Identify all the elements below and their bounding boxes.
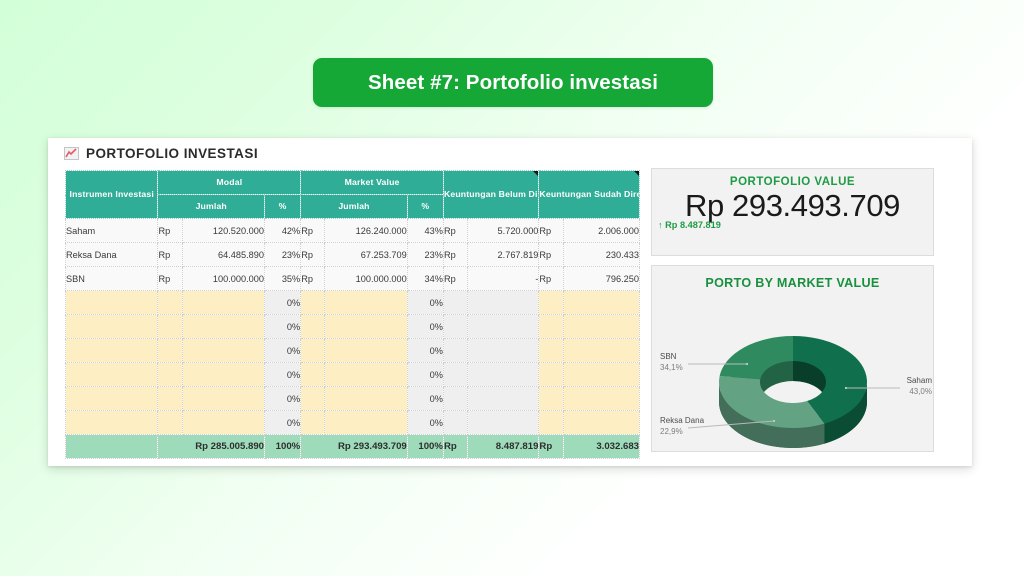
cell-modal-cur[interactable]: Rp	[158, 219, 182, 243]
cell-sudah-cur[interactable]: Rp	[539, 219, 563, 243]
donut-label-sbn: SBN 34,1%	[660, 352, 683, 374]
table-total-row[interactable]: Rp 285.005.890100%Rp 293.493.709100%Rp8.…	[66, 435, 640, 459]
donut-label-reksa-dana-name: Reksa Dana	[660, 416, 704, 427]
cell-empty[interactable]	[158, 291, 182, 315]
cell-empty[interactable]	[301, 411, 325, 435]
total-cell-mv-jumlah[interactable]: Rp 293.493.709	[301, 435, 408, 459]
cell-belum-cur[interactable]: Rp	[443, 267, 467, 291]
cell-empty[interactable]	[443, 291, 467, 315]
cell-empty[interactable]	[301, 363, 325, 387]
table-row-empty[interactable]: 0%0%	[66, 387, 640, 411]
line-chart-icon	[64, 147, 79, 160]
cell-empty[interactable]	[182, 363, 264, 387]
total-cell-modal-jumlah[interactable]: Rp 285.005.890	[158, 435, 265, 459]
donut-label-saham-value: 43,0%	[880, 387, 932, 398]
cell-sudah[interactable]: 796.250	[563, 267, 639, 291]
cell-mv-jumlah[interactable]: 67.253.709	[325, 243, 407, 267]
cell-modal-cur[interactable]: Rp	[158, 267, 182, 291]
portfolio-value-panel: PORTOFOLIO VALUE Rp 293.493.709 ↑ Rp 8.4…	[651, 168, 934, 256]
cell-empty[interactable]	[158, 387, 182, 411]
cell-modal-jumlah[interactable]: 64.485.890	[182, 243, 264, 267]
cell-empty[interactable]	[182, 291, 264, 315]
cell-empty[interactable]	[66, 387, 158, 411]
total-cell-belum-cur[interactable]: Rp	[443, 435, 467, 459]
cell-empty[interactable]	[301, 339, 325, 363]
th-modal[interactable]: Modal	[158, 171, 301, 195]
cell-mv-pct[interactable]: 34%	[407, 267, 443, 291]
cell-mv-pct[interactable]: 43%	[407, 219, 443, 243]
table-row[interactable]: Reksa DanaRp64.485.89023%Rp67.253.70923%…	[66, 243, 640, 267]
total-cell-modal-pct[interactable]: 100%	[265, 435, 301, 459]
th-keuntungan-sudah-direalisasi[interactable]: Keuntungan Sudah Direalisasi	[539, 171, 640, 219]
th-market-value[interactable]: Market Value	[301, 171, 444, 195]
cell-empty[interactable]	[539, 387, 563, 411]
cell-mv-cur[interactable]: Rp	[301, 243, 325, 267]
cell-empty[interactable]	[563, 411, 639, 435]
cell-empty[interactable]	[158, 315, 182, 339]
th-instrumen-investasi[interactable]: Instrumen Investasi	[66, 171, 158, 219]
porto-by-market-value-panel: PORTO BY MARKET VALUE Saham 43,0% SBN 34…	[651, 265, 934, 452]
table-row-empty[interactable]: 0%0%	[66, 315, 640, 339]
cell-empty[interactable]	[468, 339, 539, 363]
cell-empty[interactable]	[539, 291, 563, 315]
cell-modal-pct[interactable]: 23%	[265, 243, 301, 267]
cell-empty-percent[interactable]: 0%	[265, 411, 301, 435]
cell-belum[interactable]: 2.767.819	[468, 243, 539, 267]
cell-empty-percent[interactable]: 0%	[265, 315, 301, 339]
sheet-heading: PORTOFOLIO INVESTASI	[64, 146, 258, 161]
sheet-heading-label: PORTOFOLIO INVESTASI	[86, 146, 258, 161]
th-modal-jumlah[interactable]: Jumlah	[158, 195, 265, 219]
cell-mv-jumlah[interactable]: 100.000.000	[325, 267, 407, 291]
cell-empty[interactable]	[158, 363, 182, 387]
cell-sudah-cur[interactable]: Rp	[539, 243, 563, 267]
cell-empty[interactable]	[66, 339, 158, 363]
cell-empty[interactable]	[182, 387, 264, 411]
cell-empty-percent[interactable]: 0%	[407, 315, 443, 339]
cell-modal-pct[interactable]: 35%	[265, 267, 301, 291]
cell-empty[interactable]	[468, 291, 539, 315]
table-header: Instrumen Investasi Modal Market Value K…	[66, 171, 640, 219]
table-row[interactable]: SahamRp120.520.00042%Rp126.240.00043%Rp5…	[66, 219, 640, 243]
cell-empty-percent[interactable]: 0%	[265, 339, 301, 363]
cell-modal-cur[interactable]: Rp	[158, 243, 182, 267]
cell-sudah[interactable]: 2.006.000	[563, 219, 639, 243]
table-header-row-1: Instrumen Investasi Modal Market Value K…	[66, 171, 640, 195]
cell-mv-cur[interactable]: Rp	[301, 219, 325, 243]
portfolio-value-amount: Rp 293.493.709	[652, 190, 933, 222]
cell-mv-cur[interactable]: Rp	[301, 267, 325, 291]
cell-belum-cur[interactable]: Rp	[443, 243, 467, 267]
sheet-title-text: Sheet #7: Portofolio investasi	[368, 71, 658, 95]
donut-label-reksa-dana: Reksa Dana 22,9%	[660, 416, 704, 438]
cell-belum[interactable]: -	[468, 267, 539, 291]
cell-empty[interactable]	[539, 315, 563, 339]
table-row-empty[interactable]: 0%0%	[66, 291, 640, 315]
cell-empty-percent[interactable]: 0%	[407, 387, 443, 411]
cell-empty-percent[interactable]: 0%	[407, 339, 443, 363]
th-market-value-jumlah[interactable]: Jumlah	[301, 195, 408, 219]
donut-label-sbn-name: SBN	[660, 352, 683, 363]
cell-empty[interactable]	[563, 291, 639, 315]
table-body: SahamRp120.520.00042%Rp126.240.00043%Rp5…	[66, 219, 640, 459]
cell-empty[interactable]	[325, 315, 407, 339]
cell-empty[interactable]	[158, 411, 182, 435]
cell-empty[interactable]	[301, 387, 325, 411]
cell-sudah[interactable]: 230.433	[563, 243, 639, 267]
cell-empty[interactable]	[158, 339, 182, 363]
cell-modal-jumlah[interactable]: 120.520.000	[182, 219, 264, 243]
cell-empty-percent[interactable]: 0%	[407, 363, 443, 387]
total-cell-mv-pct[interactable]: 100%	[407, 435, 443, 459]
total-cell-instrumen[interactable]	[66, 435, 158, 459]
cell-mv-pct[interactable]: 23%	[407, 243, 443, 267]
cell-empty[interactable]	[468, 363, 539, 387]
cell-empty[interactable]	[325, 363, 407, 387]
table-row-empty[interactable]: 0%0%	[66, 363, 640, 387]
cell-instrumen[interactable]: SBN	[66, 267, 158, 291]
cell-empty[interactable]	[468, 315, 539, 339]
cell-belum[interactable]: 5.720.000	[468, 219, 539, 243]
cell-empty[interactable]	[301, 315, 325, 339]
cell-empty[interactable]	[443, 411, 467, 435]
table-row[interactable]: SBNRp100.000.00035%Rp100.000.00034%Rp-Rp…	[66, 267, 640, 291]
cell-empty[interactable]	[66, 411, 158, 435]
cell-empty[interactable]	[66, 363, 158, 387]
cell-empty[interactable]	[325, 339, 407, 363]
cell-empty[interactable]	[539, 339, 563, 363]
cell-empty[interactable]	[66, 315, 158, 339]
cell-instrumen[interactable]: Saham	[66, 219, 158, 243]
cell-empty[interactable]	[325, 411, 407, 435]
cell-empty[interactable]	[563, 339, 639, 363]
cell-empty[interactable]	[443, 387, 467, 411]
cell-empty-percent[interactable]: 0%	[265, 291, 301, 315]
cell-instrumen[interactable]: Reksa Dana	[66, 243, 158, 267]
cell-mv-jumlah[interactable]: 126.240.000	[325, 219, 407, 243]
cell-empty-percent[interactable]: 0%	[407, 411, 443, 435]
cell-empty[interactable]	[539, 363, 563, 387]
table-row-empty[interactable]: 0%0%	[66, 411, 640, 435]
cell-empty[interactable]	[182, 339, 264, 363]
cell-empty[interactable]	[443, 363, 467, 387]
cell-empty[interactable]	[563, 315, 639, 339]
cell-empty[interactable]	[325, 387, 407, 411]
cell-empty[interactable]	[468, 411, 539, 435]
cell-empty[interactable]	[182, 315, 264, 339]
total-cell-sudah-cur[interactable]: Rp	[539, 435, 563, 459]
donut-label-sbn-value: 34,1%	[660, 363, 683, 374]
donut-label-saham-name: Saham	[880, 376, 932, 387]
donut-chart[interactable]: Saham 43,0% SBN 34,1% Reksa Dana 22,9%	[652, 266, 935, 453]
cell-sudah-cur[interactable]: Rp	[539, 267, 563, 291]
cell-empty[interactable]	[443, 339, 467, 363]
cell-empty[interactable]	[325, 291, 407, 315]
cell-empty[interactable]	[443, 315, 467, 339]
cell-empty-percent[interactable]: 0%	[407, 291, 443, 315]
cell-modal-pct[interactable]: 42%	[265, 219, 301, 243]
cell-empty[interactable]	[468, 387, 539, 411]
donut-label-reksa-dana-value: 22,9%	[660, 427, 704, 438]
cell-empty[interactable]	[539, 411, 563, 435]
cell-modal-jumlah[interactable]: 100.000.000	[182, 267, 264, 291]
th-keuntungan-belum-direalisasi[interactable]: Keuntungan Belum Direalisasi	[443, 171, 538, 219]
cell-empty-percent[interactable]: 0%	[265, 363, 301, 387]
cell-empty[interactable]	[563, 363, 639, 387]
cell-empty[interactable]	[182, 411, 264, 435]
cell-belum-cur[interactable]: Rp	[443, 219, 467, 243]
cell-empty[interactable]	[66, 291, 158, 315]
sheet-title-pill: Sheet #7: Portofolio investasi	[313, 58, 713, 107]
th-market-value-percent[interactable]: %	[407, 195, 443, 219]
portfolio-value-title: PORTOFOLIO VALUE	[652, 176, 933, 188]
total-cell-belum[interactable]: 8.487.819	[468, 435, 539, 459]
table-row-empty[interactable]: 0%0%	[66, 339, 640, 363]
cell-empty[interactable]	[563, 387, 639, 411]
donut-label-saham: Saham 43,0%	[880, 376, 932, 398]
portfolio-table[interactable]: Instrumen Investasi Modal Market Value K…	[65, 170, 640, 459]
th-modal-percent[interactable]: %	[265, 195, 301, 219]
cell-empty-percent[interactable]: 0%	[265, 387, 301, 411]
total-cell-sudah[interactable]: 3.032.683	[563, 435, 639, 459]
cell-empty[interactable]	[301, 291, 325, 315]
